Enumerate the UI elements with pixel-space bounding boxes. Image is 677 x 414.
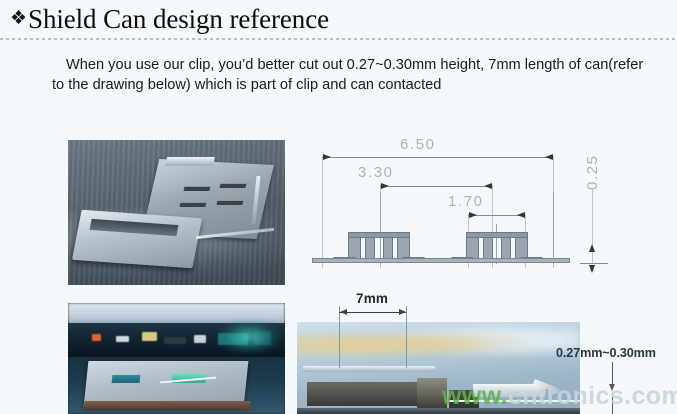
technical-drawing: 6.50 3.30 1.70 0.25 xyxy=(300,132,677,282)
page-title-text: Shield Can design reference xyxy=(28,4,329,35)
shield-can-block xyxy=(417,378,447,412)
plate-slot xyxy=(219,183,246,188)
clip-wall xyxy=(348,237,361,259)
extension-line xyxy=(322,156,323,268)
plate-slot xyxy=(216,200,243,205)
pcb-component xyxy=(142,332,157,341)
shield-can-rail xyxy=(165,157,215,166)
clip-wall xyxy=(466,237,479,259)
dimension-arrow xyxy=(589,265,595,273)
base-rail xyxy=(312,258,570,263)
dimension-arrow xyxy=(469,212,477,218)
dimension-label-slot: 1.70 xyxy=(448,193,484,210)
dimension-label-overall: 6.50 xyxy=(400,136,436,153)
dimension-label-height: 0.25 xyxy=(584,154,601,190)
dimension-label-inner: 3.30 xyxy=(358,164,394,181)
pcb-glow xyxy=(218,321,280,353)
callout-arrow xyxy=(399,309,406,315)
page-title: ❖ Shield Can design reference xyxy=(10,2,670,36)
dimension-arrow xyxy=(517,212,525,218)
clip-metal-arm xyxy=(473,384,545,397)
pcb-component xyxy=(92,334,101,341)
floret-bullet-icon: ❖ xyxy=(10,9,27,28)
pcb-component xyxy=(194,335,206,343)
photo-pcb-with-shield-can xyxy=(68,303,285,414)
callout-arrow xyxy=(609,384,615,391)
callout-height-label: 0.27mm~0.30mm xyxy=(556,346,656,360)
clip-tab xyxy=(365,237,375,259)
clip-wall xyxy=(515,237,528,259)
photo-shield-can-parts xyxy=(68,140,285,285)
clip-tab xyxy=(501,237,511,259)
plate-slot xyxy=(183,186,210,191)
callout-arrow xyxy=(340,309,347,315)
body-paragraph: When you use our clip, you’d better cut … xyxy=(52,56,652,95)
dimension-arrow xyxy=(589,244,595,252)
callout-dimension-line xyxy=(339,312,406,313)
pcb-component xyxy=(116,336,129,342)
clip-wall xyxy=(397,237,410,259)
callout-length-label: 7mm xyxy=(356,291,388,306)
extension-line xyxy=(592,188,593,264)
can-top-edge xyxy=(303,366,435,372)
callout-leader-line xyxy=(612,396,613,414)
dimension-arrow xyxy=(323,154,331,160)
callout-extension-line xyxy=(406,306,407,368)
photo-base-shadow xyxy=(297,408,580,414)
dimension-line-height xyxy=(580,263,608,264)
plate-slot xyxy=(179,202,206,207)
center-line xyxy=(553,192,554,264)
pcb-component xyxy=(164,337,186,344)
shield-can-lip xyxy=(84,401,251,410)
clip-tab xyxy=(383,237,393,259)
dimension-line-overall xyxy=(322,157,553,158)
gap-reference-line xyxy=(447,400,580,402)
dimension-arrow xyxy=(484,183,492,189)
callout-leader-line xyxy=(612,362,613,386)
clip-tab xyxy=(483,237,493,259)
shield-can-window xyxy=(112,375,141,383)
callout-extension-line xyxy=(339,306,340,368)
dimension-arrow xyxy=(381,183,389,189)
dimension-line-inner xyxy=(380,186,492,187)
title-divider xyxy=(0,38,677,40)
dimension-arrow xyxy=(545,154,553,160)
